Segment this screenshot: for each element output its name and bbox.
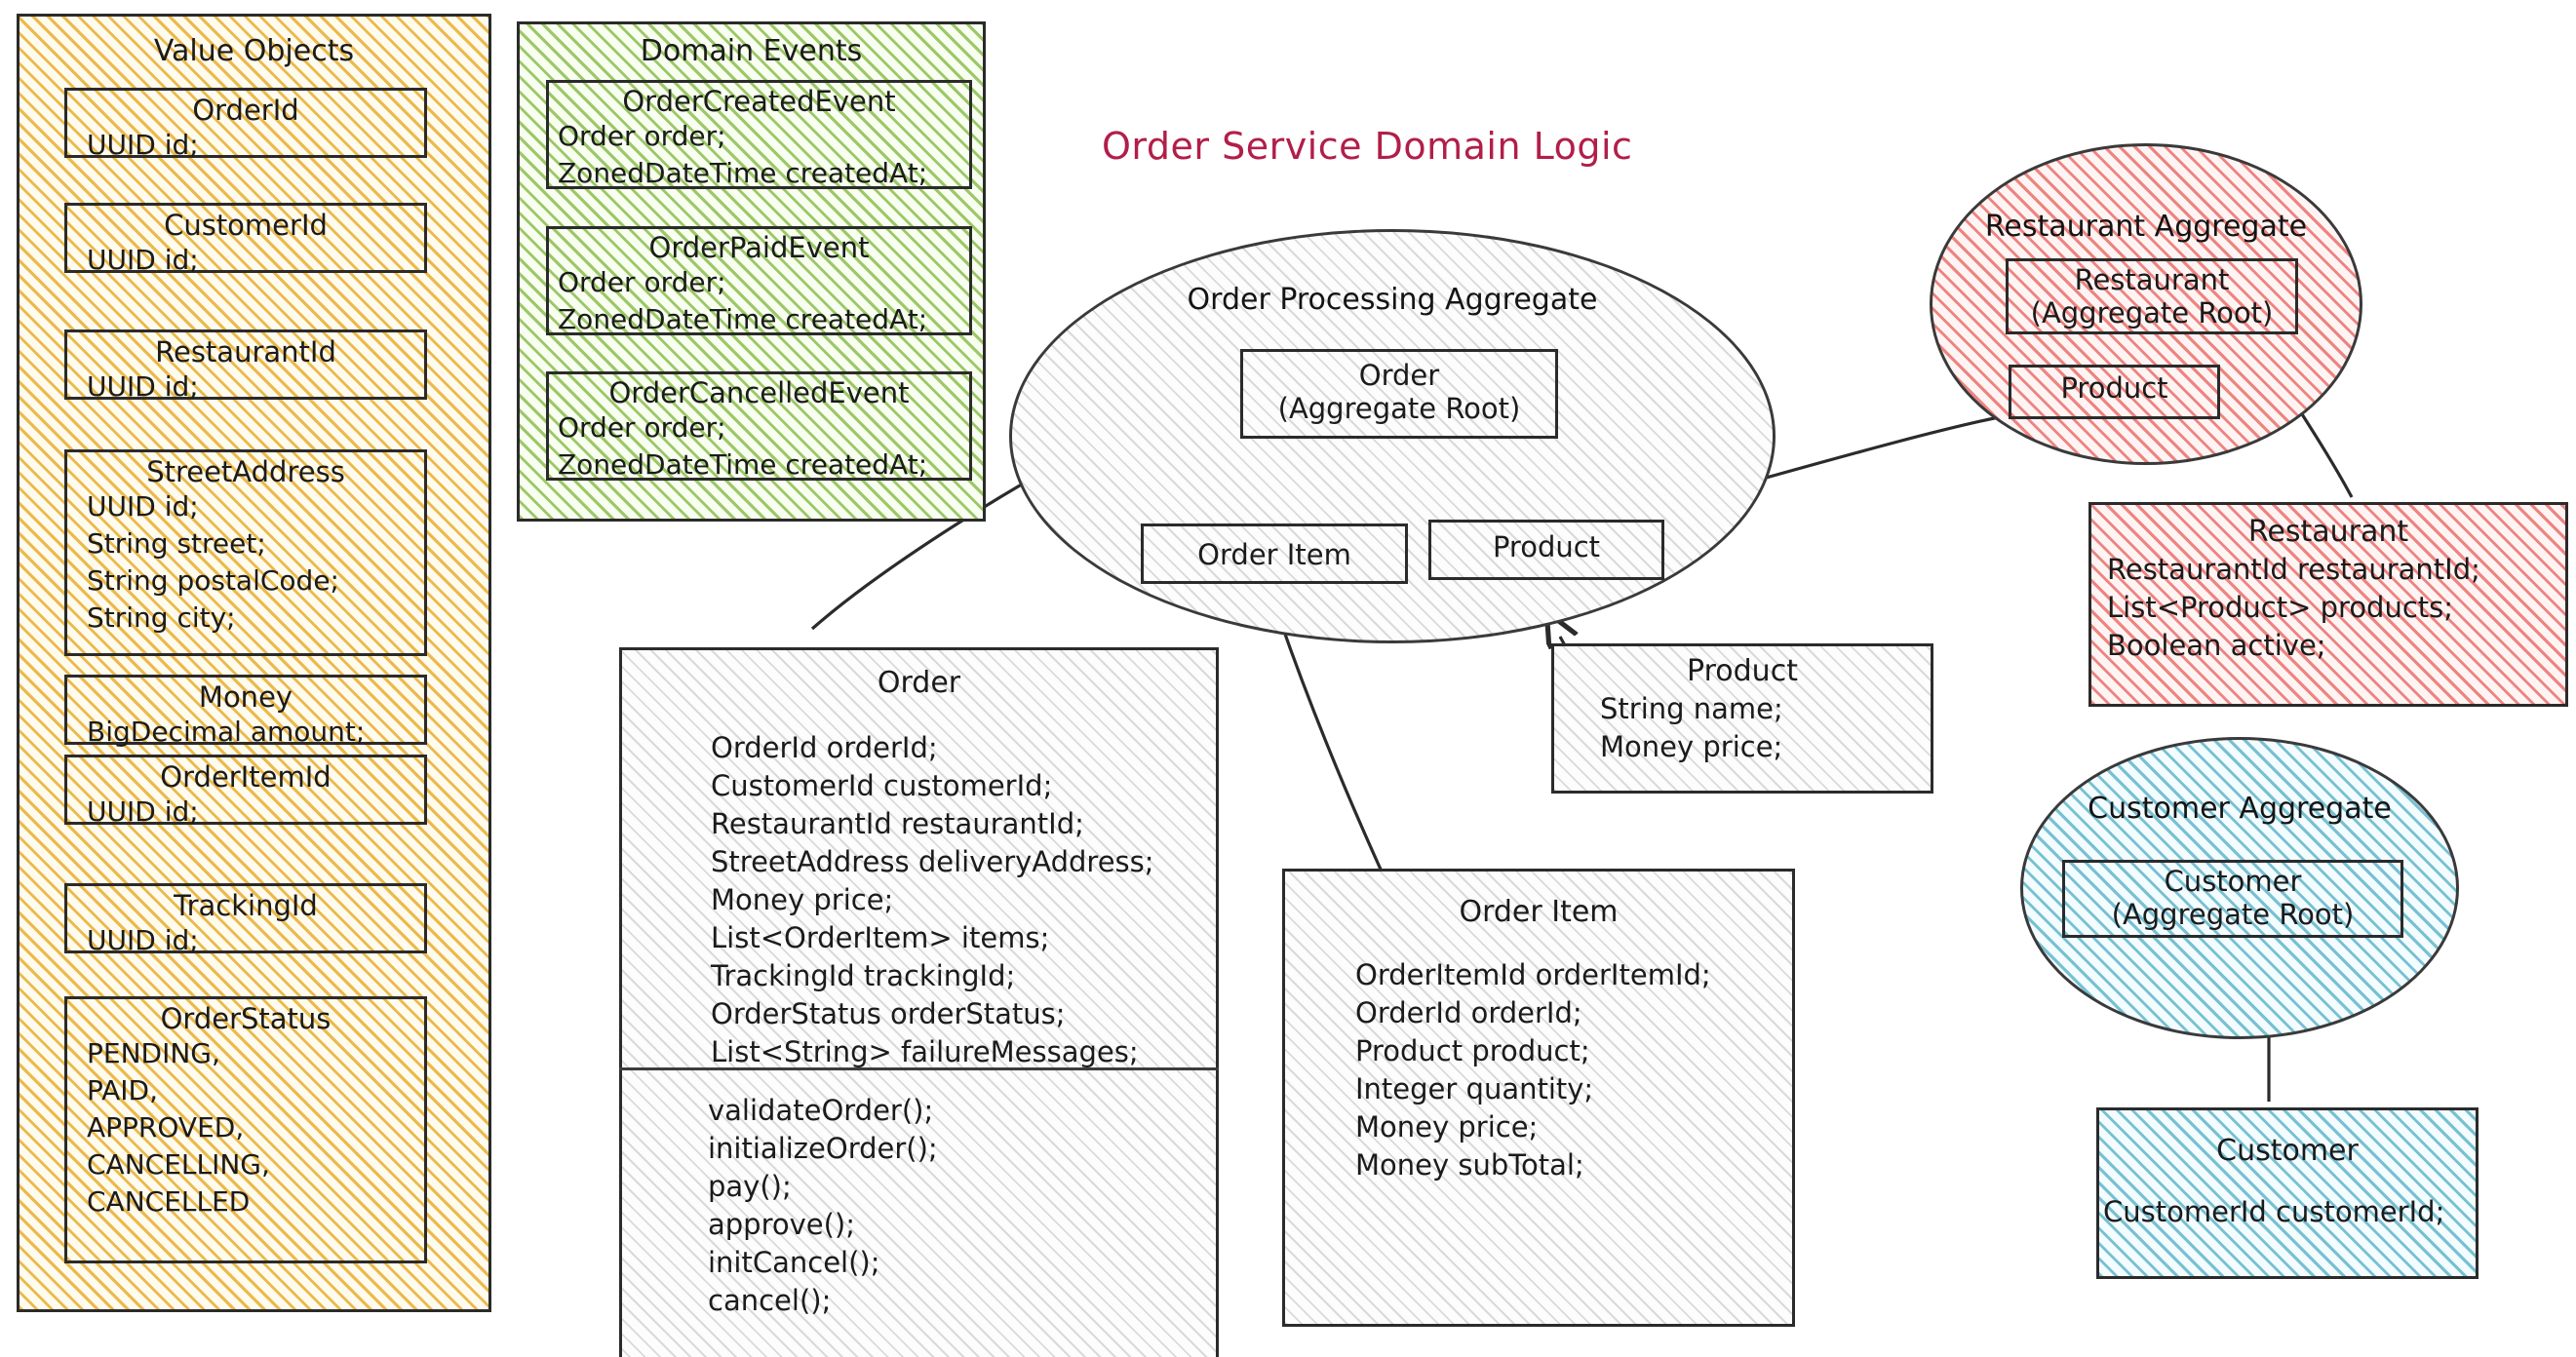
value-object-orderitemid: OrderItemId UUID id; bbox=[64, 755, 427, 825]
vo-title: OrderStatus bbox=[67, 1002, 424, 1035]
panel-title: Value Objects bbox=[20, 34, 488, 68]
value-object-money: Money BigDecimal amount; bbox=[64, 675, 427, 745]
vo-fields: UUID id; bbox=[87, 127, 424, 164]
node-line1: Restaurant bbox=[2009, 263, 2295, 296]
class-title: Product bbox=[1554, 654, 1931, 688]
vo-fields: UUID id; bbox=[87, 922, 424, 959]
class-fields: CustomerId customerId; bbox=[2103, 1193, 2476, 1231]
value-object-trackingid: TrackingId UUID id; bbox=[64, 883, 427, 953]
class-product-detail: Product String name; Money price; bbox=[1551, 643, 1933, 794]
vo-title: Money bbox=[67, 680, 424, 714]
class-restaurant-detail: Restaurant RestaurantId restaurantId; Li… bbox=[2088, 502, 2568, 707]
panel-title: Domain Events bbox=[520, 34, 983, 68]
event-title: OrderCreatedEvent bbox=[549, 85, 969, 118]
domain-event-ordercancelled: OrderCancelledEvent Order order; ZonedDa… bbox=[546, 371, 972, 481]
class-order-divider bbox=[619, 1067, 1219, 1070]
event-fields: Order order; ZonedDateTime createdAt; bbox=[558, 264, 969, 338]
vo-fields: BigDecimal amount; bbox=[87, 714, 424, 751]
diagram-canvas: Order Service Domain Logic Value Objects… bbox=[0, 0, 2576, 1357]
vo-fields: UUID id; bbox=[87, 794, 424, 831]
value-object-orderid: OrderId UUID id; bbox=[64, 88, 427, 158]
class-fields: OrderItemId orderItemId; OrderId orderId… bbox=[1355, 956, 1792, 1184]
node-line1: Customer bbox=[2065, 865, 2400, 898]
ellipse-title: Order Processing Aggregate bbox=[1012, 283, 1773, 317]
node-restaurant-aggregate-root: Restaurant (Aggregate Root) bbox=[2006, 258, 2298, 334]
vo-title: CustomerId bbox=[67, 209, 424, 242]
vo-fields: UUID id; String street; String postalCod… bbox=[87, 488, 424, 637]
ellipse-title: Restaurant Aggregate bbox=[1932, 210, 2360, 244]
node-line1: Product bbox=[2011, 371, 2217, 405]
page-title: Order Service Domain Logic bbox=[1102, 125, 1632, 168]
node-line1: Order Item bbox=[1144, 538, 1405, 571]
vo-title: OrderId bbox=[67, 94, 424, 127]
vo-title: RestaurantId bbox=[67, 335, 424, 368]
vo-title: TrackingId bbox=[67, 889, 424, 922]
class-title: Order bbox=[622, 666, 1216, 700]
value-object-orderstatus: OrderStatus PENDING, PAID, APPROVED, CAN… bbox=[64, 996, 427, 1263]
vo-fields: UUID id; bbox=[87, 242, 424, 279]
node-order-aggregate-root: Order (Aggregate Root) bbox=[1240, 349, 1558, 439]
node-product-restaurant: Product bbox=[2009, 365, 2220, 419]
class-title: Restaurant bbox=[2091, 515, 2565, 549]
node-order-item: Order Item bbox=[1141, 523, 1408, 584]
class-title: Customer bbox=[2099, 1134, 2476, 1168]
value-object-customerid: CustomerId UUID id; bbox=[64, 203, 427, 273]
class-title: Order Item bbox=[1285, 895, 1792, 929]
vo-title: OrderItemId bbox=[67, 760, 424, 794]
class-order-methods: validateOrder(); initializeOrder(); pay(… bbox=[708, 1092, 938, 1320]
event-title: OrderCancelledEvent bbox=[549, 376, 969, 409]
ellipse-title: Customer Aggregate bbox=[2023, 792, 2456, 826]
domain-event-ordercreated: OrderCreatedEvent Order order; ZonedDate… bbox=[546, 80, 972, 189]
node-customer-aggregate-root: Customer (Aggregate Root) bbox=[2062, 860, 2403, 938]
vo-fields: PENDING, PAID, APPROVED, CANCELLING, CAN… bbox=[87, 1035, 424, 1221]
node-product-order: Product bbox=[1428, 520, 1664, 580]
node-line2: (Aggregate Root) bbox=[1243, 392, 1555, 425]
class-fields: RestaurantId restaurantId; List<Product>… bbox=[2107, 551, 2565, 665]
value-object-streetaddress: StreetAddress UUID id; String street; St… bbox=[64, 449, 427, 656]
node-line2: (Aggregate Root) bbox=[2009, 296, 2295, 330]
event-fields: Order order; ZonedDateTime createdAt; bbox=[558, 118, 969, 192]
class-order-item-detail: Order Item OrderItemId orderItemId; Orde… bbox=[1282, 869, 1795, 1327]
class-customer-detail: Customer CustomerId customerId; bbox=[2096, 1107, 2478, 1279]
event-fields: Order order; ZonedDateTime createdAt; bbox=[558, 409, 969, 484]
node-line1: Product bbox=[1431, 530, 1661, 563]
class-fields: String name; Money price; bbox=[1600, 690, 1931, 766]
value-object-restaurantid: RestaurantId UUID id; bbox=[64, 330, 427, 400]
vo-fields: UUID id; bbox=[87, 368, 424, 406]
class-fields: OrderId orderId; CustomerId customerId; … bbox=[711, 729, 1216, 1071]
vo-title: StreetAddress bbox=[67, 455, 424, 488]
node-line2: (Aggregate Root) bbox=[2065, 898, 2400, 931]
event-title: OrderPaidEvent bbox=[549, 231, 969, 264]
domain-event-orderpaid: OrderPaidEvent Order order; ZonedDateTim… bbox=[546, 226, 972, 335]
node-line1: Order bbox=[1243, 359, 1555, 392]
